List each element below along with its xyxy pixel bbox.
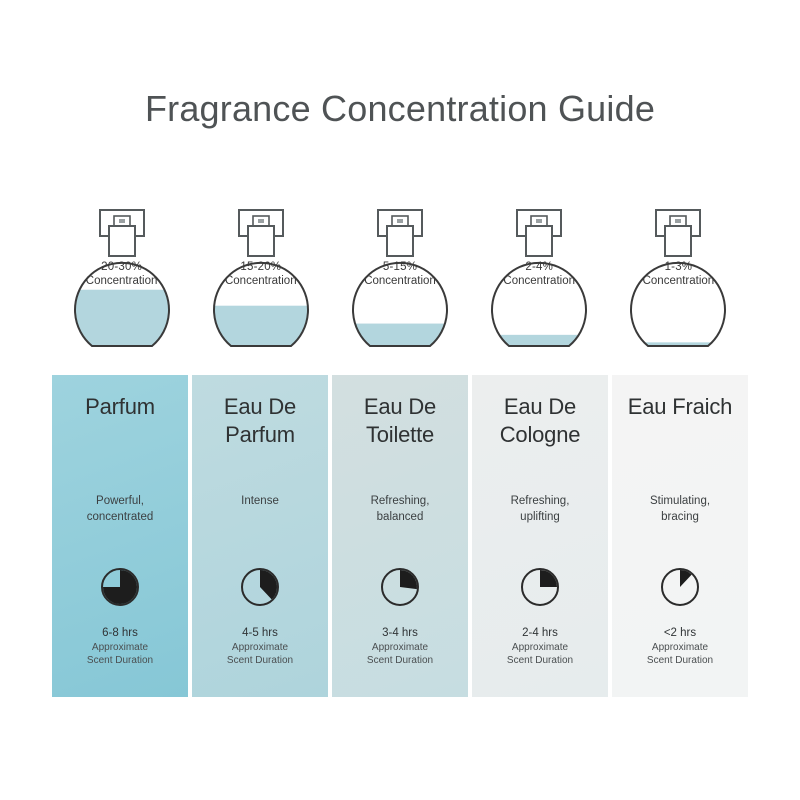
card-duration: 6-8 hrsApproximateScent Duration	[52, 625, 188, 667]
duration-note: ApproximateScent Duration	[52, 641, 188, 667]
pie-clock-icon	[658, 565, 702, 609]
card-duration: 4-5 hrsApproximateScent Duration	[192, 625, 328, 667]
card-duration: 3-4 hrsApproximateScent Duration	[332, 625, 468, 667]
bottle-cell: 15-20%Concentration	[191, 200, 330, 360]
card-title: Eau De Toilette	[340, 393, 460, 449]
card-title: Parfum	[85, 393, 155, 421]
duration-note: ApproximateScent Duration	[192, 641, 328, 667]
duration-hours: 3-4 hrs	[332, 625, 468, 641]
pie-clock-icon	[238, 565, 282, 609]
fragrance-card[interactable]: Eau FraichStimulating,bracing<2 hrsAppro…	[612, 375, 748, 697]
duration-hours: 4-5 hrs	[192, 625, 328, 641]
bottle-cell: 5-15%Concentration	[330, 200, 469, 360]
bottle-cell: 2-4%Concentration	[470, 200, 609, 360]
bottle-row: 20-30%Concentration15-20%Concentration5-…	[52, 200, 748, 360]
card-title: Eau Fraich	[628, 393, 732, 421]
duration-hours: <2 hrs	[612, 625, 748, 641]
pie-clock-icon	[98, 565, 142, 609]
duration-hours: 6-8 hrs	[52, 625, 188, 641]
perfume-bottle-icon: 20-30%Concentration	[67, 200, 177, 358]
card-row: ParfumPowerful,concentrated6-8 hrsApprox…	[52, 375, 748, 697]
bottle-cell: 1-3%Concentration	[609, 200, 748, 360]
perfume-bottle-icon: 2-4%Concentration	[484, 200, 594, 358]
duration-hours: 2-4 hrs	[472, 625, 608, 641]
fragrance-card[interactable]: Eau De ToiletteRefreshing,balanced3-4 hr…	[332, 375, 468, 697]
duration-note: ApproximateScent Duration	[332, 641, 468, 667]
page-title: Fragrance Concentration Guide	[0, 88, 800, 130]
fragrance-card[interactable]: Eau De ParfumIntense4-5 hrsApproximateSc…	[192, 375, 328, 697]
card-duration: 2-4 hrsApproximateScent Duration	[472, 625, 608, 667]
card-description: Stimulating,bracing	[612, 493, 748, 525]
card-title: Eau De Cologne	[480, 393, 600, 449]
card-description: Intense	[192, 493, 328, 509]
perfume-bottle-icon: 1-3%Concentration	[623, 200, 733, 358]
pie-clock-icon	[378, 565, 422, 609]
card-title: Eau De Parfum	[200, 393, 320, 449]
fragrance-card[interactable]: Eau De CologneRefreshing,uplifting2-4 hr…	[472, 375, 608, 697]
card-description: Powerful,concentrated	[52, 493, 188, 525]
bottle-cell: 20-30%Concentration	[52, 200, 191, 360]
perfume-bottle-icon: 15-20%Concentration	[206, 200, 316, 358]
duration-note: ApproximateScent Duration	[612, 641, 748, 667]
fragrance-card[interactable]: ParfumPowerful,concentrated6-8 hrsApprox…	[52, 375, 188, 697]
duration-note: ApproximateScent Duration	[472, 641, 608, 667]
pie-clock-icon	[518, 565, 562, 609]
card-duration: <2 hrsApproximateScent Duration	[612, 625, 748, 667]
card-description: Refreshing,balanced	[332, 493, 468, 525]
infographic-page: Fragrance Concentration Guide 20-30%Conc…	[0, 0, 800, 800]
card-description: Refreshing,uplifting	[472, 493, 608, 525]
perfume-bottle-icon: 5-15%Concentration	[345, 200, 455, 358]
